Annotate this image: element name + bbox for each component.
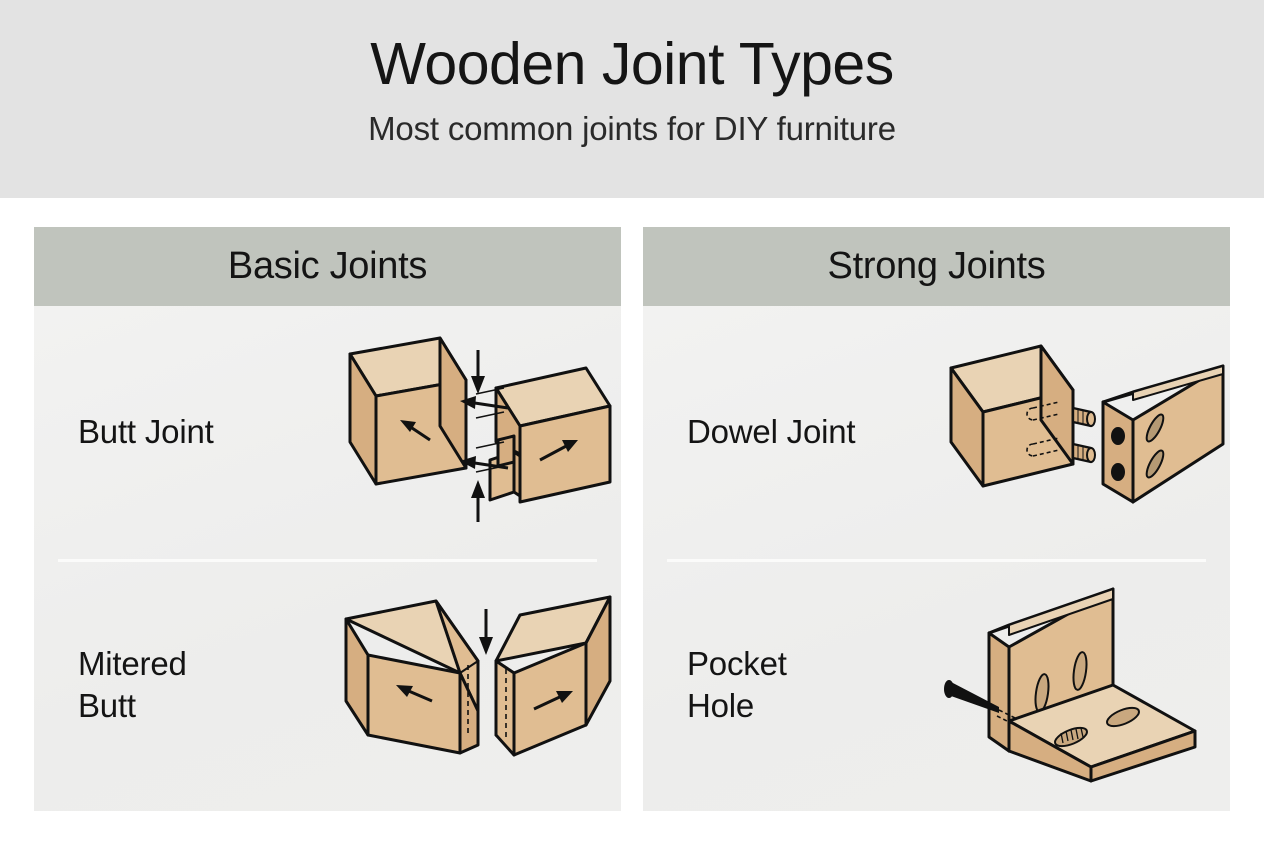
- joint-row-mitered-butt[interactable]: Mitered Butt: [34, 559, 621, 812]
- dowel-left-board: [951, 346, 1095, 486]
- butt-joint-diagram: [328, 306, 621, 559]
- column-body-strong: Dowel Joint: [643, 306, 1230, 811]
- joint-columns: Basic Joints Butt Joint: [34, 227, 1231, 811]
- column-basic-joints: Basic Joints Butt Joint: [34, 227, 621, 811]
- joint-label-dowel-joint: Dowel Joint: [687, 411, 937, 453]
- page-subtitle: Most common joints for DIY furniture: [368, 110, 896, 148]
- arrow-up-icon: [471, 480, 485, 522]
- butt-joint-svg: [328, 332, 621, 532]
- mitered-left-board: [346, 601, 478, 753]
- column-header-basic-label: Basic Joints: [228, 245, 427, 288]
- mitered-right-board: [496, 597, 610, 755]
- arrow-down-icon: [471, 350, 485, 394]
- column-header-strong-label: Strong Joints: [828, 245, 1046, 288]
- arrow-down-icon: [479, 609, 493, 655]
- page-title: Wooden Joint Types: [370, 34, 893, 96]
- mitered-butt-diagram: [328, 559, 621, 812]
- joint-label-butt-joint: Butt Joint: [78, 411, 328, 453]
- joint-row-pocket-hole[interactable]: Pocket Hole: [643, 559, 1230, 812]
- dowel-hole-lower-icon: [1111, 463, 1125, 481]
- joint-row-dowel-joint[interactable]: Dowel Joint: [643, 306, 1230, 559]
- column-header-basic: Basic Joints: [34, 227, 621, 306]
- dowel-right-board: [1103, 366, 1223, 502]
- page-header: Wooden Joint Types Most common joints fo…: [0, 0, 1264, 198]
- joint-label-mitered-butt: Mitered Butt: [78, 643, 328, 727]
- joint-row-butt-joint[interactable]: Butt Joint: [34, 306, 621, 559]
- column-body-basic: Butt Joint: [34, 306, 621, 811]
- butt-left-board: [350, 338, 466, 484]
- joint-label-pocket-hole: Pocket Hole: [687, 643, 937, 727]
- pocket-hole-diagram: [937, 559, 1230, 812]
- butt-right-board: [490, 368, 610, 502]
- dowel-hole-upper-icon: [1111, 427, 1125, 445]
- dowel-pin-lower-icon: [1073, 444, 1095, 462]
- dowel-pin-upper-icon: [1073, 408, 1095, 426]
- column-header-strong: Strong Joints: [643, 227, 1230, 306]
- dowel-joint-diagram: [937, 306, 1230, 559]
- mitered-butt-svg: [328, 585, 621, 785]
- column-strong-joints: Strong Joints Dowel Joint: [643, 227, 1230, 811]
- dowel-joint-svg: [937, 332, 1230, 532]
- pocket-hole-svg: [937, 585, 1230, 785]
